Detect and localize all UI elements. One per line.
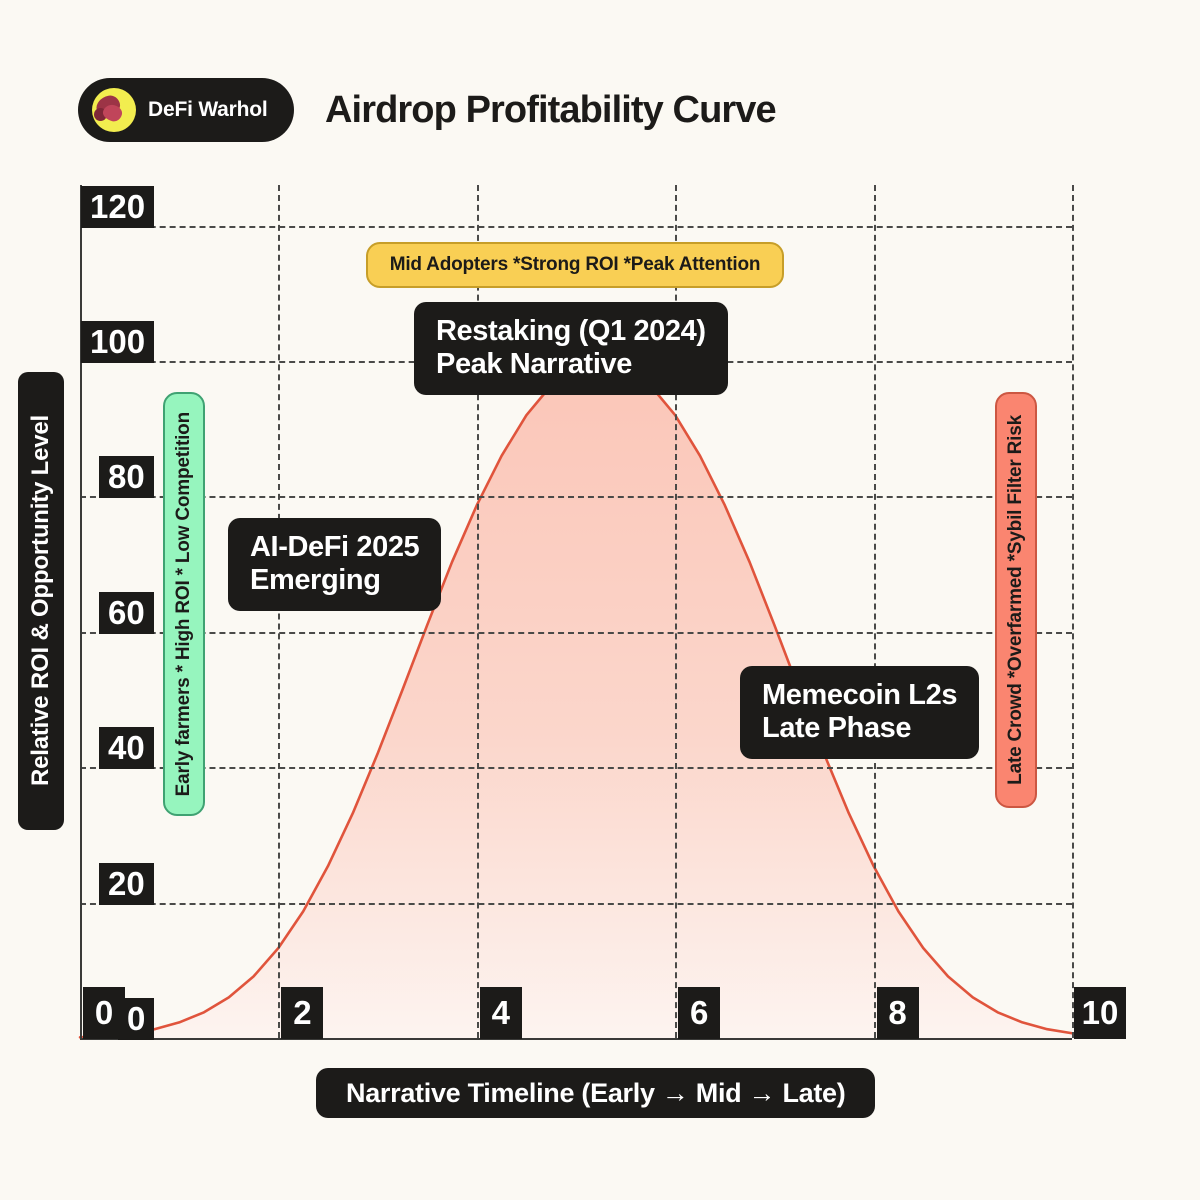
x-axis-title: Narrative Timeline (Early → Mid → Late): [316, 1068, 875, 1118]
header: DeFi Warhol Airdrop Profitability Curve: [0, 0, 1200, 170]
band-late-crowd: Late Crowd *Overfarmed *Sybil Filter Ris…: [995, 392, 1037, 808]
x-tick-6: 6: [678, 987, 720, 1039]
y-axis-title-text: Relative ROI & Opportunity Level: [27, 415, 55, 786]
y-tick-20: 20: [99, 863, 154, 905]
band-mid-adopters: Mid Adopters *Strong ROI *Peak Attention: [366, 242, 784, 288]
y-tick-120: 120: [81, 186, 154, 228]
x-axis-line: [80, 1038, 1072, 1040]
x-tick-4: 4: [480, 987, 522, 1039]
x-tick-10: 10: [1074, 987, 1126, 1039]
x-tick-2: 2: [281, 987, 323, 1039]
page-title: Airdrop Profitability Curve: [325, 80, 776, 140]
brand-pill[interactable]: DeFi Warhol: [78, 78, 294, 142]
band-mid-adopters-text: Mid Adopters *Strong ROI *Peak Attention: [390, 254, 761, 276]
brand-name: DeFi Warhol: [148, 98, 268, 122]
gridline-x-10: [1072, 185, 1074, 1038]
callout-ai-defi: AI-DeFi 2025 Emerging: [228, 518, 441, 611]
callout-restaking: Restaking (Q1 2024) Peak Narrative: [414, 302, 728, 395]
y-tick-60: 60: [99, 592, 154, 634]
band-early-farmers: Early farmers * High ROI * Low Competiti…: [163, 392, 205, 816]
band-late-crowd-text: Late Crowd *Overfarmed *Sybil Filter Ris…: [1005, 415, 1027, 785]
y-tick-100: 100: [81, 321, 154, 363]
callout-memecoin: Memecoin L2s Late Phase: [740, 666, 979, 759]
y-tick-40: 40: [99, 727, 154, 769]
x-tick-0: 0: [83, 987, 125, 1039]
x-tick-8: 8: [877, 987, 919, 1039]
y-tick-80: 80: [99, 456, 154, 498]
y-axis-title: Relative ROI & Opportunity Level: [18, 372, 64, 830]
band-early-farmers-text: Early farmers * High ROI * Low Competiti…: [173, 412, 195, 796]
warhol-moon-icon: [92, 88, 136, 132]
y-axis-line: [80, 185, 82, 1040]
